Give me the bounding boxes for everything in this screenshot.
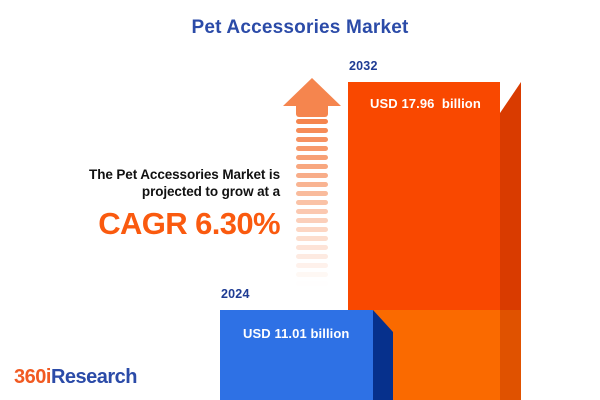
statement-line-2: projected to grow at a <box>35 183 280 200</box>
arrow-head <box>283 78 341 108</box>
bar-forecast-year-label: 2032 <box>349 59 378 73</box>
bar-forecast-front <box>348 82 500 310</box>
arrow-segment <box>296 146 328 151</box>
arrow-segment <box>296 173 328 178</box>
cagr-value: CAGR 6.30% <box>35 207 280 241</box>
arrow-segment <box>296 254 328 259</box>
arrow-segment <box>296 155 328 160</box>
arrow-segment <box>296 281 328 286</box>
arrow-segment <box>296 236 328 241</box>
logo-research: Research <box>51 366 137 388</box>
arrow-neck <box>296 105 328 117</box>
cagr-statement: The Pet Accessories Market is projected … <box>35 166 280 241</box>
arrow-segment <box>296 290 328 295</box>
arrow-segment <box>296 128 328 133</box>
arrow-segment <box>296 164 328 169</box>
arrow-segment <box>296 218 328 223</box>
growth-arrow-icon <box>283 78 341 293</box>
arrow-segment <box>296 119 328 124</box>
bar-base-value-label: USD 11.01 billion <box>243 326 349 341</box>
arrow-segment <box>296 272 328 277</box>
bar-base-year-label: 2024 <box>221 287 250 301</box>
arrow-shaft <box>296 119 328 293</box>
arrow-segment <box>296 209 328 214</box>
arrow-segment <box>296 263 328 268</box>
arrow-segment <box>296 182 328 187</box>
bar-forecast-value-label: USD 17.96 billion <box>370 96 481 111</box>
arrow-segment <box>296 137 328 142</box>
arrow-segment <box>296 227 328 232</box>
infographic-canvas: Pet Accessories Market The Pet Accessori… <box>0 0 600 400</box>
bar-base-front <box>220 310 373 400</box>
arrow-segment <box>296 245 328 250</box>
bar-forecast-side-lower <box>500 310 521 400</box>
arrow-segment <box>296 200 328 205</box>
logo-360i: 360i <box>14 366 51 388</box>
arrow-segment <box>296 191 328 196</box>
brand-logo[interactable]: 360iResearch <box>14 366 137 389</box>
page-title: Pet Accessories Market <box>0 17 600 39</box>
statement-line-1: The Pet Accessories Market is <box>35 166 280 183</box>
